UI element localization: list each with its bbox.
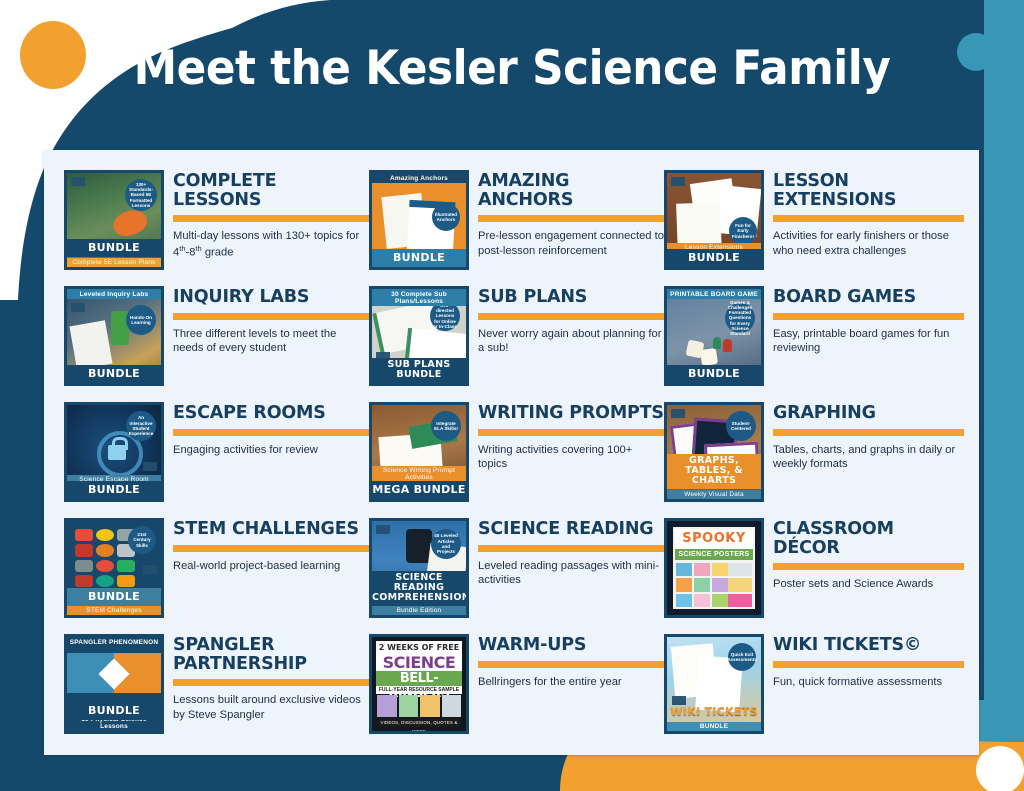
product-description: Fun, quick formative assessments <box>773 675 964 690</box>
product-description: Multi-day lessons with 130+ topics for 4… <box>173 229 369 261</box>
product-heading: ESCAPE ROOMS <box>173 404 369 423</box>
product-thumbnail[interactable]: Integrate ELA Skills! Science Writing Pr… <box>369 402 469 502</box>
product-description: Pre-lesson engagement connected to post-… <box>478 229 664 259</box>
product-badge: Fun for Early Finishers! <box>729 217 757 245</box>
accent-rule <box>173 429 369 436</box>
product-thumbnail[interactable]: 2 WEEKS OF FREE SCIENCE BELL-RINGERS FUL… <box>369 634 469 734</box>
science-wordmark: SCIENCE <box>376 654 462 671</box>
product-thumbnail[interactable]: Fun for Early Finishers! Lesson Extensio… <box>664 170 764 270</box>
product-heading: BOARD GAMES <box>773 288 964 307</box>
product-description: Never worry again about planning for a s… <box>478 327 664 357</box>
product-text: CLASSROOM DÉCOR Poster sets and Science … <box>773 518 964 592</box>
brand-logo-icon <box>143 462 157 471</box>
product-heading: INQUIRY LABS <box>173 288 369 307</box>
paper-shape-icon <box>69 320 112 370</box>
thumb-caption: BUNDLE <box>372 249 466 267</box>
product-badge: 130+ Standards-Based 5E Formatted Lesson… <box>125 179 157 211</box>
product-text: COMPLETE LESSONS Multi-day lessons with … <box>173 170 369 261</box>
thumb-top-label: PRINTABLE BOARD GAME <box>667 289 761 299</box>
product-thumbnail[interactable]: SPOOKY SCIENCE POSTERS <box>664 518 764 618</box>
accent-rule <box>773 563 964 570</box>
thumb-top-label: SPOOKY <box>675 529 753 549</box>
product-thumbnail[interactable]: SPANGLER PHENOMENON 19 Physical Science … <box>64 634 164 734</box>
product-description: Easy, printable board games for fun revi… <box>773 327 964 357</box>
product-card[interactable]: SPOOKY SCIENCE POSTERS CLASSROOM DÉCOR P… <box>664 512 964 628</box>
brand-logo-icon <box>376 525 390 534</box>
product-text: GRAPHING Tables, charts, and graphs in d… <box>773 402 964 472</box>
thumb-caption: MEGA BUNDLE <box>372 481 466 499</box>
product-heading: SCIENCE READING <box>478 520 664 539</box>
product-card[interactable]: An Interactive Student Experience Scienc… <box>64 396 369 512</box>
product-description: Lessons built around exclusive videos by… <box>173 693 369 723</box>
thumb-sub-label: STEM Challenges <box>67 606 161 615</box>
product-card[interactable]: Quick Exit Assessments BUNDLE WIKI TICKE… <box>664 628 964 744</box>
stem-icons-group <box>75 529 135 587</box>
product-description: Tables, charts, and graphs in daily or w… <box>773 443 964 473</box>
thumb-sub-label: Weekly Visual Data <box>667 490 761 499</box>
product-card[interactable]: Self-directed Lessons for Online or In-C… <box>369 280 664 396</box>
dice-icon <box>700 348 718 366</box>
brand-logo-icon <box>71 177 85 186</box>
product-badge: Games & Challenges Formatted Questions f… <box>725 303 755 333</box>
product-badge: Quick Exit Assessments <box>728 643 756 671</box>
product-heading: WIKI TICKETS© <box>773 636 964 655</box>
accent-rule <box>478 313 664 320</box>
product-thumbnail[interactable]: 21st Century Skills STEM Challenges BUND… <box>64 518 164 618</box>
product-description: Real-world project-based learning <box>173 559 369 574</box>
product-badge: Hands-On Learning <box>126 305 156 335</box>
accent-rule <box>773 313 964 320</box>
product-thumbnail[interactable]: Illustrated Anchors Amazing Anchors BUND… <box>369 170 469 270</box>
thumb-top-label: Leveled Inquiry Labs <box>67 289 161 299</box>
product-description: Engaging activities for review <box>173 443 369 458</box>
accent-rule <box>173 679 369 686</box>
product-text: BOARD GAMES Easy, printable board games … <box>773 286 964 356</box>
product-card[interactable]: SPANGLER PHENOMENON 19 Physical Science … <box>64 628 369 744</box>
product-heading: SPANGLER PARTNERSHIP <box>173 636 369 673</box>
product-heading: LESSON EXTENSIONS <box>773 172 964 209</box>
poster-column-icon <box>728 563 752 607</box>
product-badge: Student-Centered <box>726 411 756 441</box>
thumb-sub-label: FULL-YEAR RESOURCE SAMPLE <box>376 686 462 694</box>
thumb-sub-label: Science Writing Prompt Activities <box>372 466 466 482</box>
thumb-caption: BUNDLE <box>67 239 161 257</box>
thumb-caption: BUNDLE <box>67 702 161 720</box>
thumb-caption: SCIENCE READING COMPREHENSION <box>372 571 466 606</box>
thumb-sub-label: Bundle Edition <box>372 606 466 615</box>
product-heading: CLASSROOM DÉCOR <box>773 520 964 557</box>
lock-shackle-icon <box>112 437 128 450</box>
product-heading: WARM-UPS <box>478 636 664 655</box>
accent-rule <box>478 661 664 668</box>
product-thumbnail[interactable]: Self-directed Lessons for Online or In-C… <box>369 286 469 386</box>
product-text: WRITING PROMPTS Writing activities cover… <box>478 402 664 472</box>
accent-rule <box>478 215 664 222</box>
product-card[interactable]: Illustrated Anchors Amazing Anchors BUND… <box>369 164 664 280</box>
accent-rule <box>773 429 964 436</box>
product-text: SCIENCE READING Leveled reading passages… <box>478 518 664 588</box>
product-card[interactable]: Hands-On Learning Leveled Inquiry Labs B… <box>64 280 369 396</box>
product-text: WARM-UPS Bellringers for the entire year <box>478 634 664 689</box>
product-text: AMAZING ANCHORS Pre-lesson engagement co… <box>478 170 664 259</box>
product-text: INQUIRY LABS Three different levels to m… <box>173 286 369 356</box>
product-heading: COMPLETE LESSONS <box>173 172 369 209</box>
accent-rule <box>173 215 369 222</box>
product-heading: WRITING PROMPTS <box>478 404 664 423</box>
product-card[interactable]: 130+ Standards-Based 5E Formatted Lesson… <box>64 164 369 280</box>
product-description: Poster sets and Science Awards <box>773 577 964 592</box>
product-card[interactable]: Student-Centered Weekly Visual Data GRAP… <box>664 396 964 512</box>
product-text: STEM CHALLENGES Real-world project-based… <box>173 518 369 573</box>
product-card[interactable]: Games & Challenges Formatted Questions f… <box>664 280 964 396</box>
product-heading: GRAPHING <box>773 404 964 423</box>
product-heading: SUB PLANS <box>478 288 664 307</box>
thumb-caption: SUB PLANS BUNDLE <box>372 358 466 383</box>
products-panel: 130+ Standards-Based 5E Formatted Lesson… <box>44 150 979 755</box>
product-badge: 21st Century Skills <box>128 526 156 554</box>
product-heading: STEM CHALLENGES <box>173 520 369 539</box>
product-thumbnail[interactable]: An Interactive Student Experience Scienc… <box>64 402 164 502</box>
products-grid: 130+ Standards-Based 5E Formatted Lesson… <box>64 164 964 744</box>
thumb-top-label: SPANGLER PHENOMENON <box>67 637 161 647</box>
thumb-caption: GRAPHS, TABLES, & CHARTS <box>667 454 761 489</box>
product-badge: Illustrated Anchors <box>432 203 460 231</box>
thumb-sub-label: Complete 5E Lesson Plans <box>67 258 161 267</box>
product-text: SPANGLER PARTNERSHIP Lessons built aroun… <box>173 634 369 723</box>
product-description: Writing activities covering 100+ topics <box>478 443 664 473</box>
product-heading: AMAZING ANCHORS <box>478 172 664 209</box>
accent-rule <box>773 661 964 668</box>
accent-rule <box>478 545 664 552</box>
product-badge: Integrate ELA Skills! <box>431 411 461 441</box>
thumb-top-label: 30 Complete Sub Plans/Lessons <box>372 289 466 306</box>
pawn-icon <box>723 339 732 352</box>
thumb-caption: BUNDLE <box>667 365 761 383</box>
product-card[interactable]: 40 Leveled Articles and Projects Bundle … <box>369 512 664 628</box>
brand-logo-icon <box>143 565 157 574</box>
brand-logo-icon <box>671 409 685 418</box>
accent-rule <box>173 545 369 552</box>
page-title: Meet the Kesler Science Family <box>36 44 988 93</box>
product-thumbnail[interactable]: Hands-On Learning Leveled Inquiry Labs B… <box>64 286 164 386</box>
thumb-caption: WIKI TICKETS <box>667 703 761 721</box>
poster-grid-icon <box>676 563 728 607</box>
product-badge: An Interactive Student Experience <box>126 411 156 441</box>
product-description: Leveled reading passages with mini-activ… <box>478 559 664 589</box>
accent-rule <box>173 313 369 320</box>
product-card[interactable]: Fun for Early Finishers! Lesson Extensio… <box>664 164 964 280</box>
product-badge: 40 Leveled Articles and Projects <box>431 529 461 559</box>
product-description: Bellringers for the entire year <box>478 675 664 690</box>
bellringers-wordmark: BELL-RINGERS <box>376 671 462 686</box>
product-text: ESCAPE ROOMS Engaging activities for rev… <box>173 402 369 457</box>
product-description: Three different levels to meet the needs… <box>173 327 369 357</box>
product-thumbnail[interactable]: 130+ Standards-Based 5E Formatted Lesson… <box>64 170 164 270</box>
thumb-footer-strip: VIDEOS, DISCUSSION, QUOTES & MORE <box>377 718 461 727</box>
product-thumbnail[interactable]: Games & Challenges Formatted Questions f… <box>664 286 764 386</box>
thumb-caption: BUNDLE <box>67 481 161 499</box>
product-card[interactable]: 2 WEEKS OF FREE SCIENCE BELL-RINGERS FUL… <box>369 628 664 744</box>
thumb-sub-label: BUNDLE <box>667 722 761 731</box>
teal-right-band <box>984 0 1024 791</box>
thumb-sub-label: SCIENCE POSTERS <box>675 549 753 560</box>
thumb-caption: BUNDLE <box>67 588 161 606</box>
product-card[interactable]: Integrate ELA Skills! Science Writing Pr… <box>369 396 664 512</box>
thumb-caption: BUNDLE <box>67 365 161 383</box>
thumb-top-label: Amazing Anchors <box>372 173 466 183</box>
accent-rule <box>478 429 664 436</box>
thumb-caption: BUNDLE <box>667 249 761 267</box>
brand-logo-icon <box>671 177 685 186</box>
product-card[interactable]: 21st Century Skills STEM Challenges BUND… <box>64 512 369 628</box>
product-text: LESSON EXTENSIONS Activities for early f… <box>773 170 964 259</box>
brand-logo-icon <box>71 303 85 312</box>
product-description: Activities for early finishers or those … <box>773 229 964 259</box>
product-text: SUB PLANS Never worry again about planni… <box>478 286 664 356</box>
product-thumbnail[interactable]: 40 Leveled Articles and Projects Bundle … <box>369 518 469 618</box>
sample-pages-grid-icon <box>377 695 461 717</box>
product-thumbnail[interactable]: Student-Centered Weekly Visual Data GRAP… <box>664 402 764 502</box>
accent-rule <box>773 215 964 222</box>
product-text: WIKI TICKETS© Fun, quick formative asses… <box>773 634 964 689</box>
pawn-icon <box>713 337 721 349</box>
product-thumbnail[interactable]: Quick Exit Assessments BUNDLE WIKI TICKE… <box>664 634 764 734</box>
